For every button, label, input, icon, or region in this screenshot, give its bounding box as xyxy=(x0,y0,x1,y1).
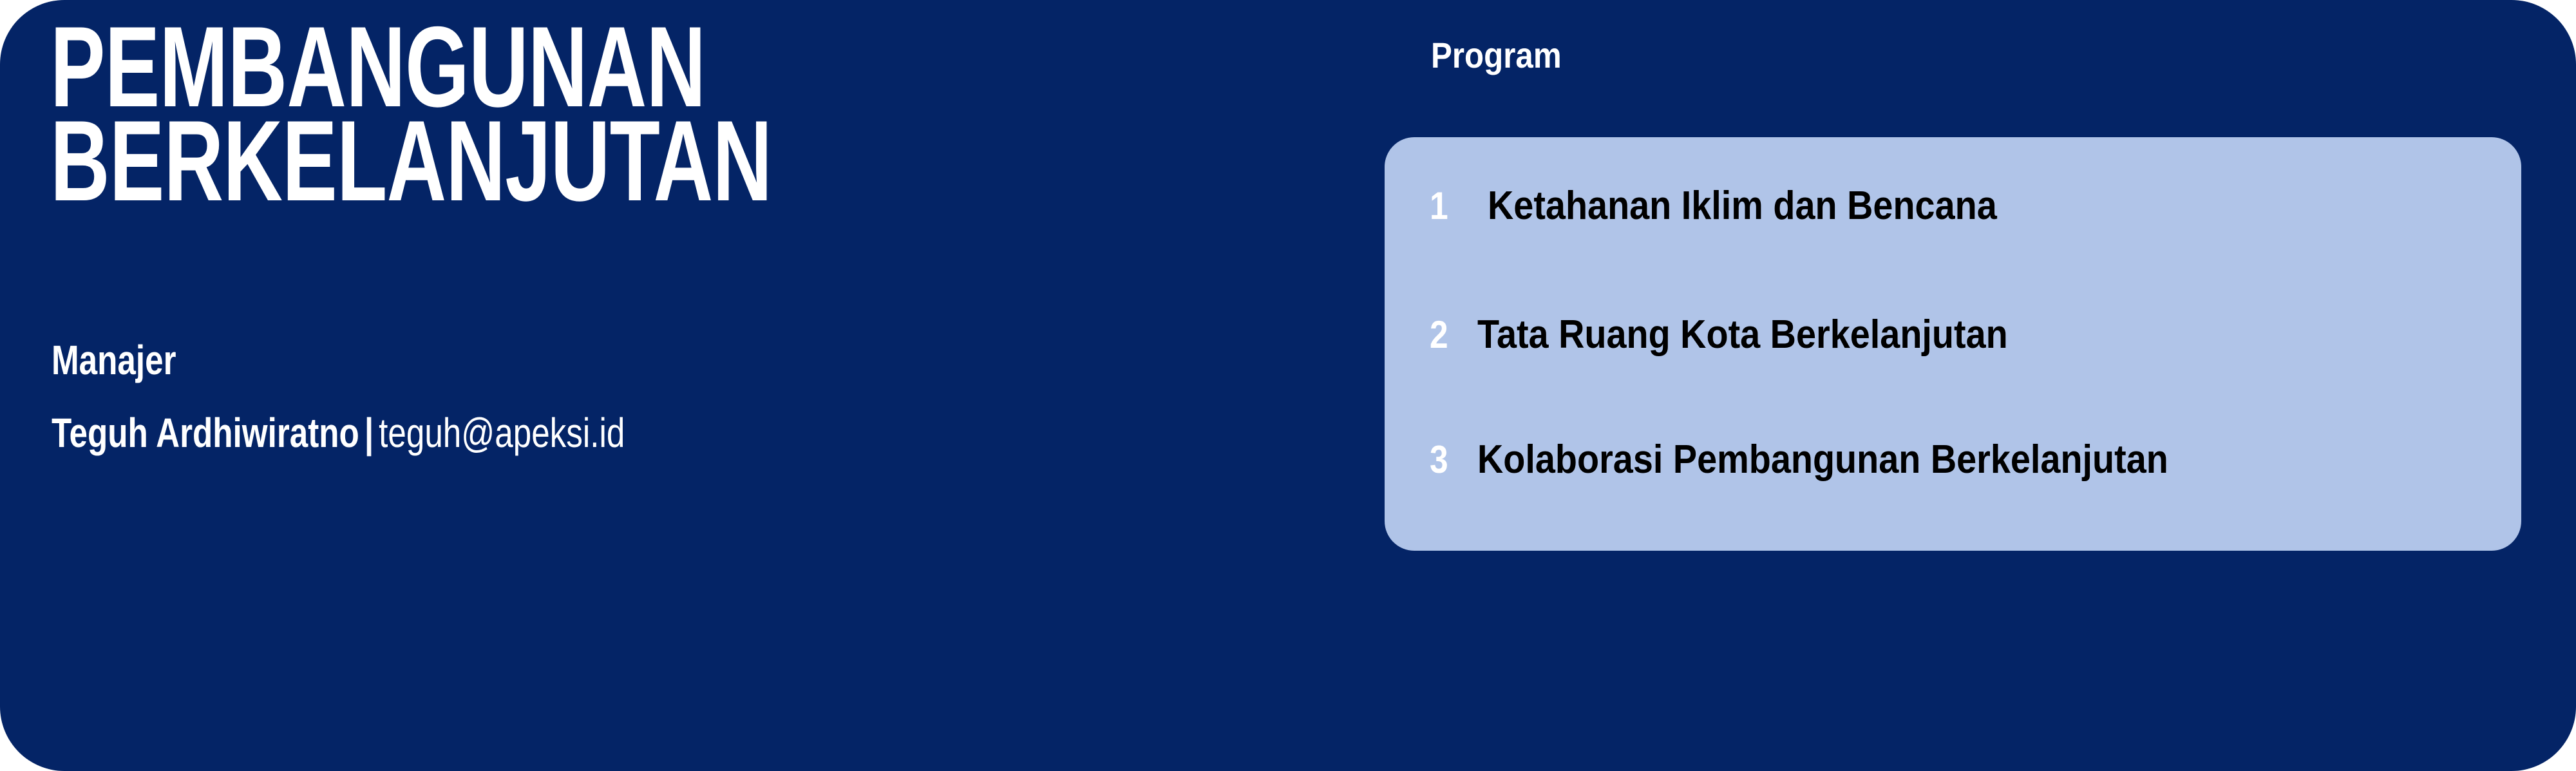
program-list-item[interactable]: 1 Ketahanan Iklim dan Bencana xyxy=(1430,177,2502,235)
email-address[interactable]: teguh@apeksi.id xyxy=(379,410,625,456)
page-title-line-2: BERKELANJUTAN xyxy=(50,111,772,212)
program-card: 1 Ketahanan Iklim dan Bencana 2 Tata Rua… xyxy=(1385,137,2521,551)
program-list-item[interactable]: 3 Kolaborasi Pembangunan Berkelanjutan xyxy=(1430,431,2502,489)
role-label: Manajer xyxy=(52,339,176,381)
title-column: PEMBANGUNAN BERKELANJUTAN Manajer Teguh … xyxy=(50,0,1312,771)
program-item-label: Kolaborasi Pembangunan Berkelanjutan xyxy=(1477,440,2168,480)
program-section-label: Program xyxy=(1431,37,1562,73)
slide-panel: PEMBANGUNAN BERKELANJUTAN Manajer Teguh … xyxy=(0,0,2576,771)
program-item-label: Tata Ruang Kota Berkelanjutan xyxy=(1477,315,2008,355)
contact-line: Teguh Ardhiwiratno|teguh@apeksi.id xyxy=(52,412,625,453)
person-name: Teguh Ardhiwiratno xyxy=(52,410,359,456)
program-item-label: Ketahanan Iklim dan Bencana xyxy=(1488,186,1997,226)
program-item-number: 3 xyxy=(1430,441,1459,479)
program-item-number: 1 xyxy=(1430,187,1459,225)
program-column: Program 1 Ketahanan Iklim dan Bencana 2 … xyxy=(1385,0,2524,771)
program-item-number: 2 xyxy=(1430,316,1459,354)
program-list-item[interactable]: 2 Tata Ruang Kota Berkelanjutan xyxy=(1430,306,2502,364)
contact-separator: | xyxy=(359,410,379,456)
